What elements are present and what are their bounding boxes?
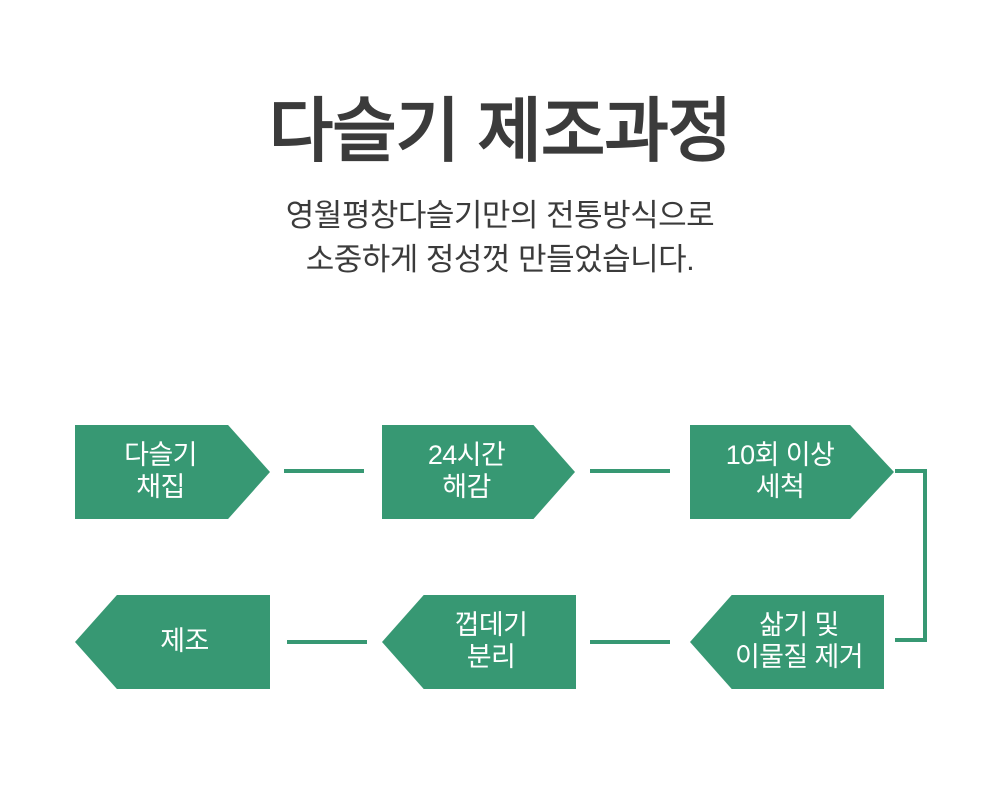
- process-step-1-line-2: 채집: [124, 472, 197, 504]
- process-step-4-label: 삶기 및 이물질 제거: [735, 610, 863, 674]
- process-step-2-line-1: 24시간: [428, 440, 505, 472]
- process-step-1[interactable]: 다슬기 채집: [75, 425, 270, 519]
- process-step-5-line-1: 껍데기: [455, 610, 528, 642]
- process-step-3[interactable]: 10회 이상 세척: [690, 425, 894, 519]
- process-flow-diagram: 다슬기 채집 24시간 해감 10회 이상 세척 삶기 및 이물질 제거: [0, 0, 1000, 800]
- process-step-6-label: 제조: [160, 626, 208, 658]
- process-step-6-line-1: 제조: [160, 626, 208, 658]
- process-step-5-line-2: 분리: [455, 642, 528, 674]
- process-step-6[interactable]: 제조: [75, 595, 270, 689]
- process-step-2-line-2: 해감: [428, 472, 505, 504]
- process-infographic: 다슬기 제조과정 영월평창다슬기만의 전통방식으로 소중하게 정성껏 만들었습니…: [0, 0, 1000, 800]
- process-step-1-line-1: 다슬기: [124, 440, 197, 472]
- process-step-5[interactable]: 껍데기 분리: [382, 595, 576, 689]
- connector-step4-step5: [590, 640, 670, 644]
- process-step-1-label: 다슬기 채집: [124, 440, 197, 504]
- process-step-4-line-2: 이물질 제거: [735, 642, 863, 674]
- process-step-3-line-2: 세척: [726, 472, 834, 504]
- connector-step1-step2: [284, 469, 364, 473]
- process-step-2[interactable]: 24시간 해감: [382, 425, 575, 519]
- process-step-2-label: 24시간 해감: [428, 440, 505, 504]
- connector-step3-step4: [895, 469, 927, 642]
- connector-step2-step3: [590, 469, 670, 473]
- connector-step5-step6: [287, 640, 367, 644]
- process-step-4-line-1: 삶기 및: [735, 610, 863, 642]
- process-step-4[interactable]: 삶기 및 이물질 제거: [690, 595, 884, 689]
- process-step-3-line-1: 10회 이상: [726, 440, 834, 472]
- process-step-3-label: 10회 이상 세척: [726, 440, 834, 504]
- process-step-5-label: 껍데기 분리: [455, 610, 528, 674]
